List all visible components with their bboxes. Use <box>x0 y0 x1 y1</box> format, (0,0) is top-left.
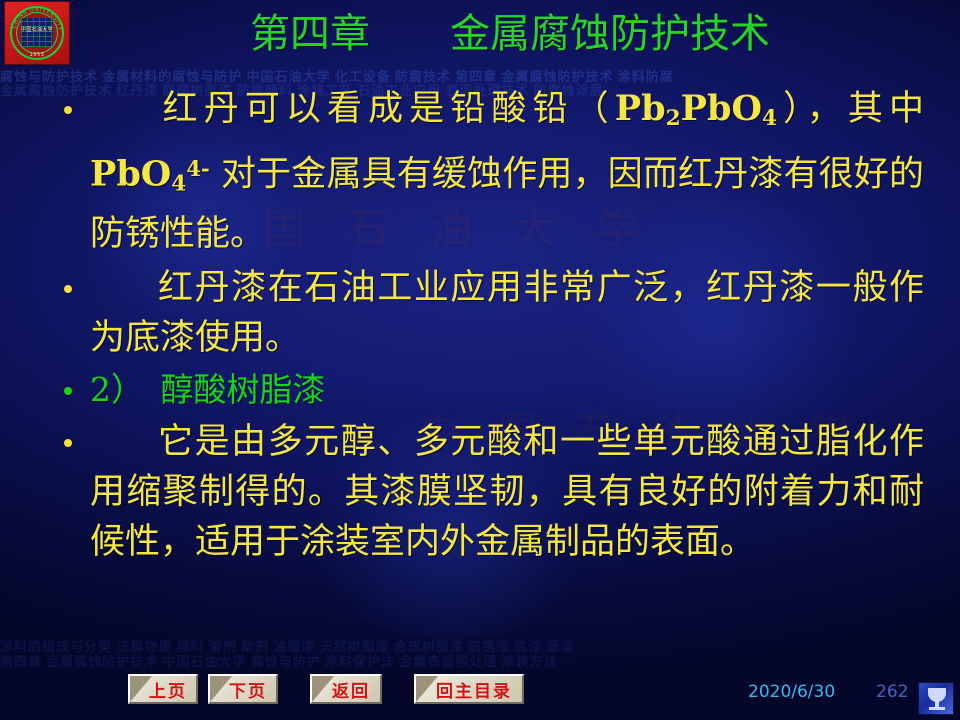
trophy-icon[interactable] <box>918 682 954 715</box>
slide-body: 红丹可以看成是铅酸铅（Pb2PbO4），其中 PbO44- 对于金属具有缓蚀作用… <box>44 84 924 571</box>
next-page-button[interactable]: 下页 <box>208 674 278 704</box>
bullet-dot-icon <box>64 106 72 114</box>
university-logo: 中国石油大学 CHINA UNIVERSITY OF PETROLEUM 195… <box>4 1 70 65</box>
watermark-band-lower: 涂料的组成与分类 成膜物质 颜料 溶剂 助剂 油脂漆 天然树脂漆 合成树脂漆 防… <box>0 636 960 655</box>
slide-canvas: 中 国 石 油 大 学 中 国 石 油 大 学 腐蚀与防护技术 金属材料的腐蚀与… <box>0 0 960 720</box>
home-menu-label: 回主目录 <box>416 676 522 702</box>
paragraph-text-3: 它是由多元醇、多元酸和一些单元酸通过脂化作用缩聚制得的。其漆膜坚韧，具有良好的附… <box>90 417 924 567</box>
prev-page-label: 上页 <box>130 676 196 702</box>
trophy-base-shape <box>929 707 945 710</box>
watermark-band-top: 腐蚀与防护技术 金属材料的腐蚀与防护 中国石油大学 化工设备 防腐技术 第四章 … <box>0 66 960 85</box>
paragraph-heading-green: 2） 醇酸树脂漆 <box>90 367 924 413</box>
bullet-item: 它是由多元醇、多元酸和一些单元酸通过脂化作用缩聚制得的。其漆膜坚韧，具有良好的附… <box>44 417 924 567</box>
logo-year: 1953 <box>5 52 69 58</box>
bullet-dot-icon <box>64 439 72 447</box>
bullet-item: 红丹漆在石油工业应用非常广泛，红丹漆一般作为底漆使用。 <box>44 263 924 363</box>
paragraph-text-2: 红丹漆在石油工业应用非常广泛，红丹漆一般作为底漆使用。 <box>90 263 924 363</box>
back-label: 返回 <box>312 676 380 702</box>
bullet-item: 红丹可以看成是铅酸铅（Pb2PbO4），其中 PbO44- 对于金属具有缓蚀作用… <box>44 84 924 259</box>
bullet-dot-icon <box>64 387 72 395</box>
svg-text:CHINA UNIVERSITY OF PETROLEUM: CHINA UNIVERSITY OF PETROLEUM <box>10 6 63 33</box>
bullet-dot-icon <box>64 285 72 293</box>
back-button[interactable]: 返回 <box>310 674 382 704</box>
home-menu-button[interactable]: 回主目录 <box>414 674 524 704</box>
footer-bar: 上页 下页 返回 回主目录 2020/6/30 262 <box>0 668 960 720</box>
page-number: 262 <box>876 682 908 702</box>
next-page-label: 下页 <box>210 676 276 702</box>
date-text: 2020/6/30 <box>748 682 835 702</box>
paragraph-text-1: 红丹可以看成是铅酸铅（Pb2PbO4），其中 PbO44- 对于金属具有缓蚀作用… <box>90 84 924 259</box>
bullet-item: 2） 醇酸树脂漆 <box>44 367 924 413</box>
trophy-cup-shape <box>928 688 946 702</box>
page-title: 第四章 金属腐蚀防护技术 <box>80 10 940 58</box>
prev-page-button[interactable]: 上页 <box>128 674 198 704</box>
